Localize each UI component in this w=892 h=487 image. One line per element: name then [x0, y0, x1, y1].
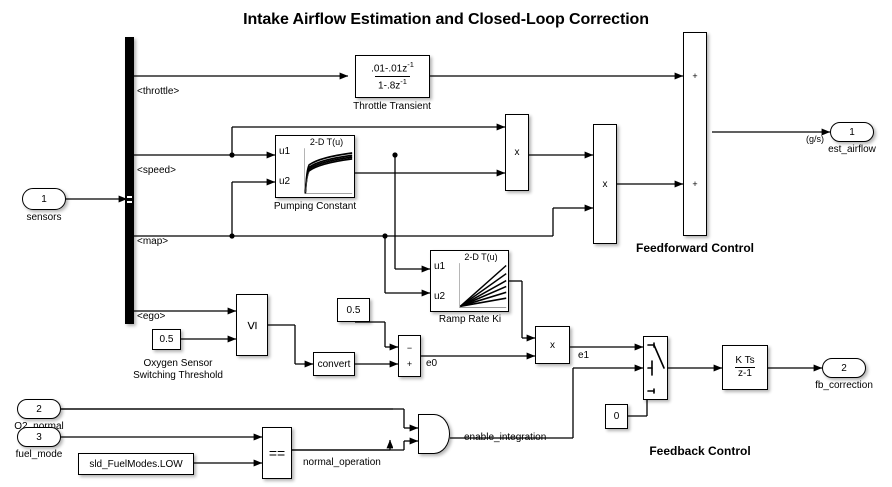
feedback-section-title: Feedback Control	[649, 444, 750, 458]
setpoint-constant-block[interactable]: 0.5	[337, 298, 370, 322]
feedforward-product-1-operator: x	[515, 147, 520, 158]
feedforward-sum-block[interactable]: + +	[683, 32, 707, 236]
signal-label-normal-operation: normal_operation	[303, 457, 381, 469]
ramp-rate-ki-block[interactable]: u1 u2 2-D T(u)	[430, 250, 509, 312]
inport-o2-normal[interactable]: 2	[17, 399, 61, 419]
feedforward-section-title: Feedforward Control	[636, 241, 754, 255]
signal-label-e0: e0	[426, 358, 437, 370]
outport-est-airflow-number: 1	[849, 127, 855, 138]
bus-signal-label-speed: <speed>	[137, 165, 176, 177]
data-type-convert-label: convert	[318, 359, 351, 370]
mode-compare-operator: ==	[269, 445, 285, 461]
discrete-integrator-block[interactable]: K Ts z-1	[722, 345, 768, 390]
zero-constant-block[interactable]: 0	[605, 404, 628, 429]
outport-est-airflow-label: est_airflow	[828, 144, 876, 156]
pumping-constant-header: 2-D T(u)	[299, 136, 354, 147]
feedforward-product-1-block[interactable]: x	[505, 114, 529, 191]
ramp-rate-ki-input-u1: u1	[434, 261, 445, 272]
setpoint-constant-value: 0.5	[347, 305, 361, 316]
pumping-constant-input-u2: u2	[279, 176, 290, 187]
ramp-rate-ki-caption: Ramp Rate Ki	[439, 314, 501, 326]
oxygen-threshold-constant-block[interactable]: 0.5	[152, 329, 181, 350]
ki-product-operator: x	[550, 340, 555, 351]
simulink-diagram-canvas: Intake Airflow Estimation and Closed-Loo…	[0, 0, 892, 487]
inport-o2-normal-number: 2	[36, 404, 42, 415]
fuel-mode-constant-block[interactable]: sld_FuelModes.LOW	[78, 453, 194, 475]
integrator-denominator: z-1	[735, 367, 755, 380]
throttle-transient-block[interactable]: .01-.01z-1 1-.8z-1	[355, 55, 430, 98]
tf-numerator-exponent: -1	[407, 60, 414, 69]
feedforward-sum-plus-1: +	[692, 72, 697, 81]
inport-fuel-mode[interactable]: 3	[17, 427, 61, 447]
error-sum-plus-sign: +	[407, 360, 412, 369]
tf-denominator-exponent: -1	[400, 77, 407, 86]
tf-numerator: .01-.01z	[371, 64, 407, 75]
outport-fb-correction-label: fb_correction	[815, 380, 873, 392]
pumping-constant-plot-wrap: 2-D T(u)	[299, 136, 354, 197]
pumping-constant-inputs: u1 u2	[276, 136, 299, 197]
ramp-rate-ki-input-u2: u2	[434, 291, 445, 302]
ramp-rate-ki-plot-wrap: 2-D T(u)	[454, 251, 508, 311]
pumping-constant-caption: Pumping Constant	[274, 201, 356, 213]
error-sum-block[interactable]: − +	[398, 335, 421, 377]
pumping-constant-input-u1: u1	[279, 146, 290, 157]
signal-label-enable-integration: enable_integration	[464, 432, 546, 444]
feedforward-product-2-block[interactable]: x	[593, 124, 617, 244]
inport-fuel-mode-label: fuel_mode	[16, 449, 63, 461]
ramp-rate-ki-header: 2-D T(u)	[454, 251, 508, 262]
pumping-constant-block[interactable]: u1 u2 2-D T(u)	[275, 135, 355, 198]
bus-selector-port-indicator	[127, 201, 132, 203]
ramp-rate-ki-plot	[454, 262, 508, 311]
data-type-convert-block[interactable]: convert	[313, 352, 355, 376]
logical-and-block[interactable]	[418, 414, 450, 454]
feedforward-sum-plus-2: +	[692, 180, 697, 189]
inport-fuel-mode-number: 3	[36, 432, 42, 443]
oxygen-threshold-caption-line2: Switching Threshold	[133, 370, 223, 382]
outport-est-airflow-unit: (g/s)	[806, 134, 824, 144]
pumping-constant-plot	[299, 147, 354, 197]
error-sum-minus-sign: −	[407, 344, 412, 353]
signal-label-e1: e1	[578, 350, 589, 362]
inport-sensors-label: sensors	[26, 212, 61, 224]
tf-denominator: 1-.8z	[378, 80, 400, 91]
outport-fb-correction[interactable]: 2	[822, 358, 866, 378]
outport-fb-correction-number: 2	[841, 363, 847, 374]
switch-block[interactable]	[643, 336, 668, 400]
bus-signal-label-ego: <ego>	[137, 311, 165, 323]
mode-compare-block[interactable]: ==	[262, 427, 292, 479]
integrator-numerator: K Ts	[732, 356, 757, 368]
feedforward-product-2-operator: x	[603, 179, 608, 190]
bus-signal-label-map: <map>	[137, 236, 168, 248]
oxygen-threshold-value: 0.5	[160, 334, 174, 345]
outport-est-airflow[interactable]: 1	[830, 122, 874, 142]
bus-signal-label-throttle: <throttle>	[137, 86, 179, 98]
inport-sensors-number: 1	[41, 194, 47, 205]
throttle-transient-caption: Throttle Transient	[353, 101, 431, 113]
ki-product-block[interactable]: x	[535, 326, 570, 364]
ramp-rate-ki-inputs: u1 u2	[431, 251, 454, 311]
relational-operator-block[interactable]: ≤	[236, 294, 268, 356]
relational-operator-symbol: ≤	[243, 321, 260, 329]
bus-selector-block[interactable]	[125, 37, 134, 324]
fuel-mode-constant-value: sld_FuelModes.LOW	[89, 459, 182, 470]
bus-selector-port-indicator	[127, 196, 132, 198]
oxygen-threshold-caption-line1: Oxygen Sensor	[144, 358, 213, 370]
zero-constant-value: 0	[614, 411, 620, 422]
integrator-transfer-function: K Ts z-1	[732, 356, 757, 380]
inport-sensors[interactable]: 1	[22, 188, 66, 210]
throttle-transient-transfer-function: .01-.01z-1 1-.8z-1	[368, 61, 417, 92]
